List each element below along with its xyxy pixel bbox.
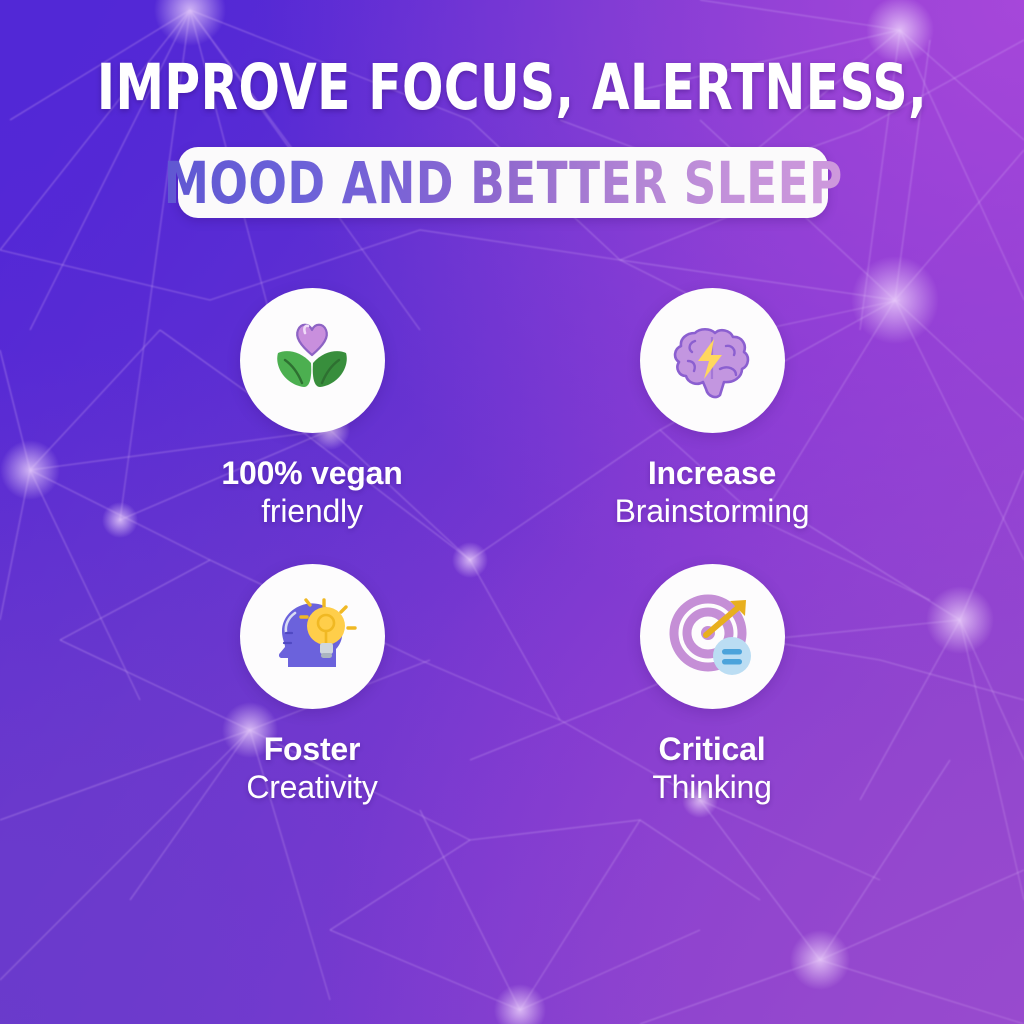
feature-item-brainstorming: Increase Brainstorming (512, 288, 912, 531)
feature-label-regular: Thinking (652, 768, 771, 807)
feature-labels: Critical Thinking (652, 731, 771, 807)
feature-label-bold: Increase (615, 455, 810, 492)
feature-item-creativity: Foster Creativity (112, 564, 512, 807)
feature-labels: Increase Brainstorming (615, 455, 810, 531)
feature-item-critical-thinking: Critical Thinking (512, 564, 912, 807)
feature-label-regular: friendly (221, 492, 402, 531)
feature-labels: Foster Creativity (246, 731, 377, 807)
head-lightbulb-icon (240, 564, 385, 709)
headline-line-2: MOOD AND BETTER SLEEP (163, 154, 842, 212)
feature-labels: 100% vegan friendly (221, 455, 402, 531)
headline-line-1: IMPROVE FOCUS, ALERTNESS, (72, 56, 953, 120)
feature-item-vegan: 100% vegan friendly (112, 288, 512, 531)
feature-grid: 100% vegan friendly Increase Brainsto (112, 288, 912, 807)
feature-label-regular: Creativity (246, 768, 377, 807)
heart-leaves-icon (240, 288, 385, 433)
feature-label-bold: 100% vegan (221, 455, 402, 492)
feature-label-regular: Brainstorming (615, 492, 810, 531)
headline-pill: MOOD AND BETTER SLEEP (178, 147, 828, 218)
feature-label-bold: Foster (246, 731, 377, 768)
headline-block: IMPROVE FOCUS, ALERTNESS, (0, 56, 1024, 120)
poster-canvas: IMPROVE FOCUS, ALERTNESS, MOOD AND BETTE… (0, 0, 1024, 1024)
feature-label-bold: Critical (652, 731, 771, 768)
brain-lightning-icon (640, 288, 785, 433)
target-arrow-icon (640, 564, 785, 709)
